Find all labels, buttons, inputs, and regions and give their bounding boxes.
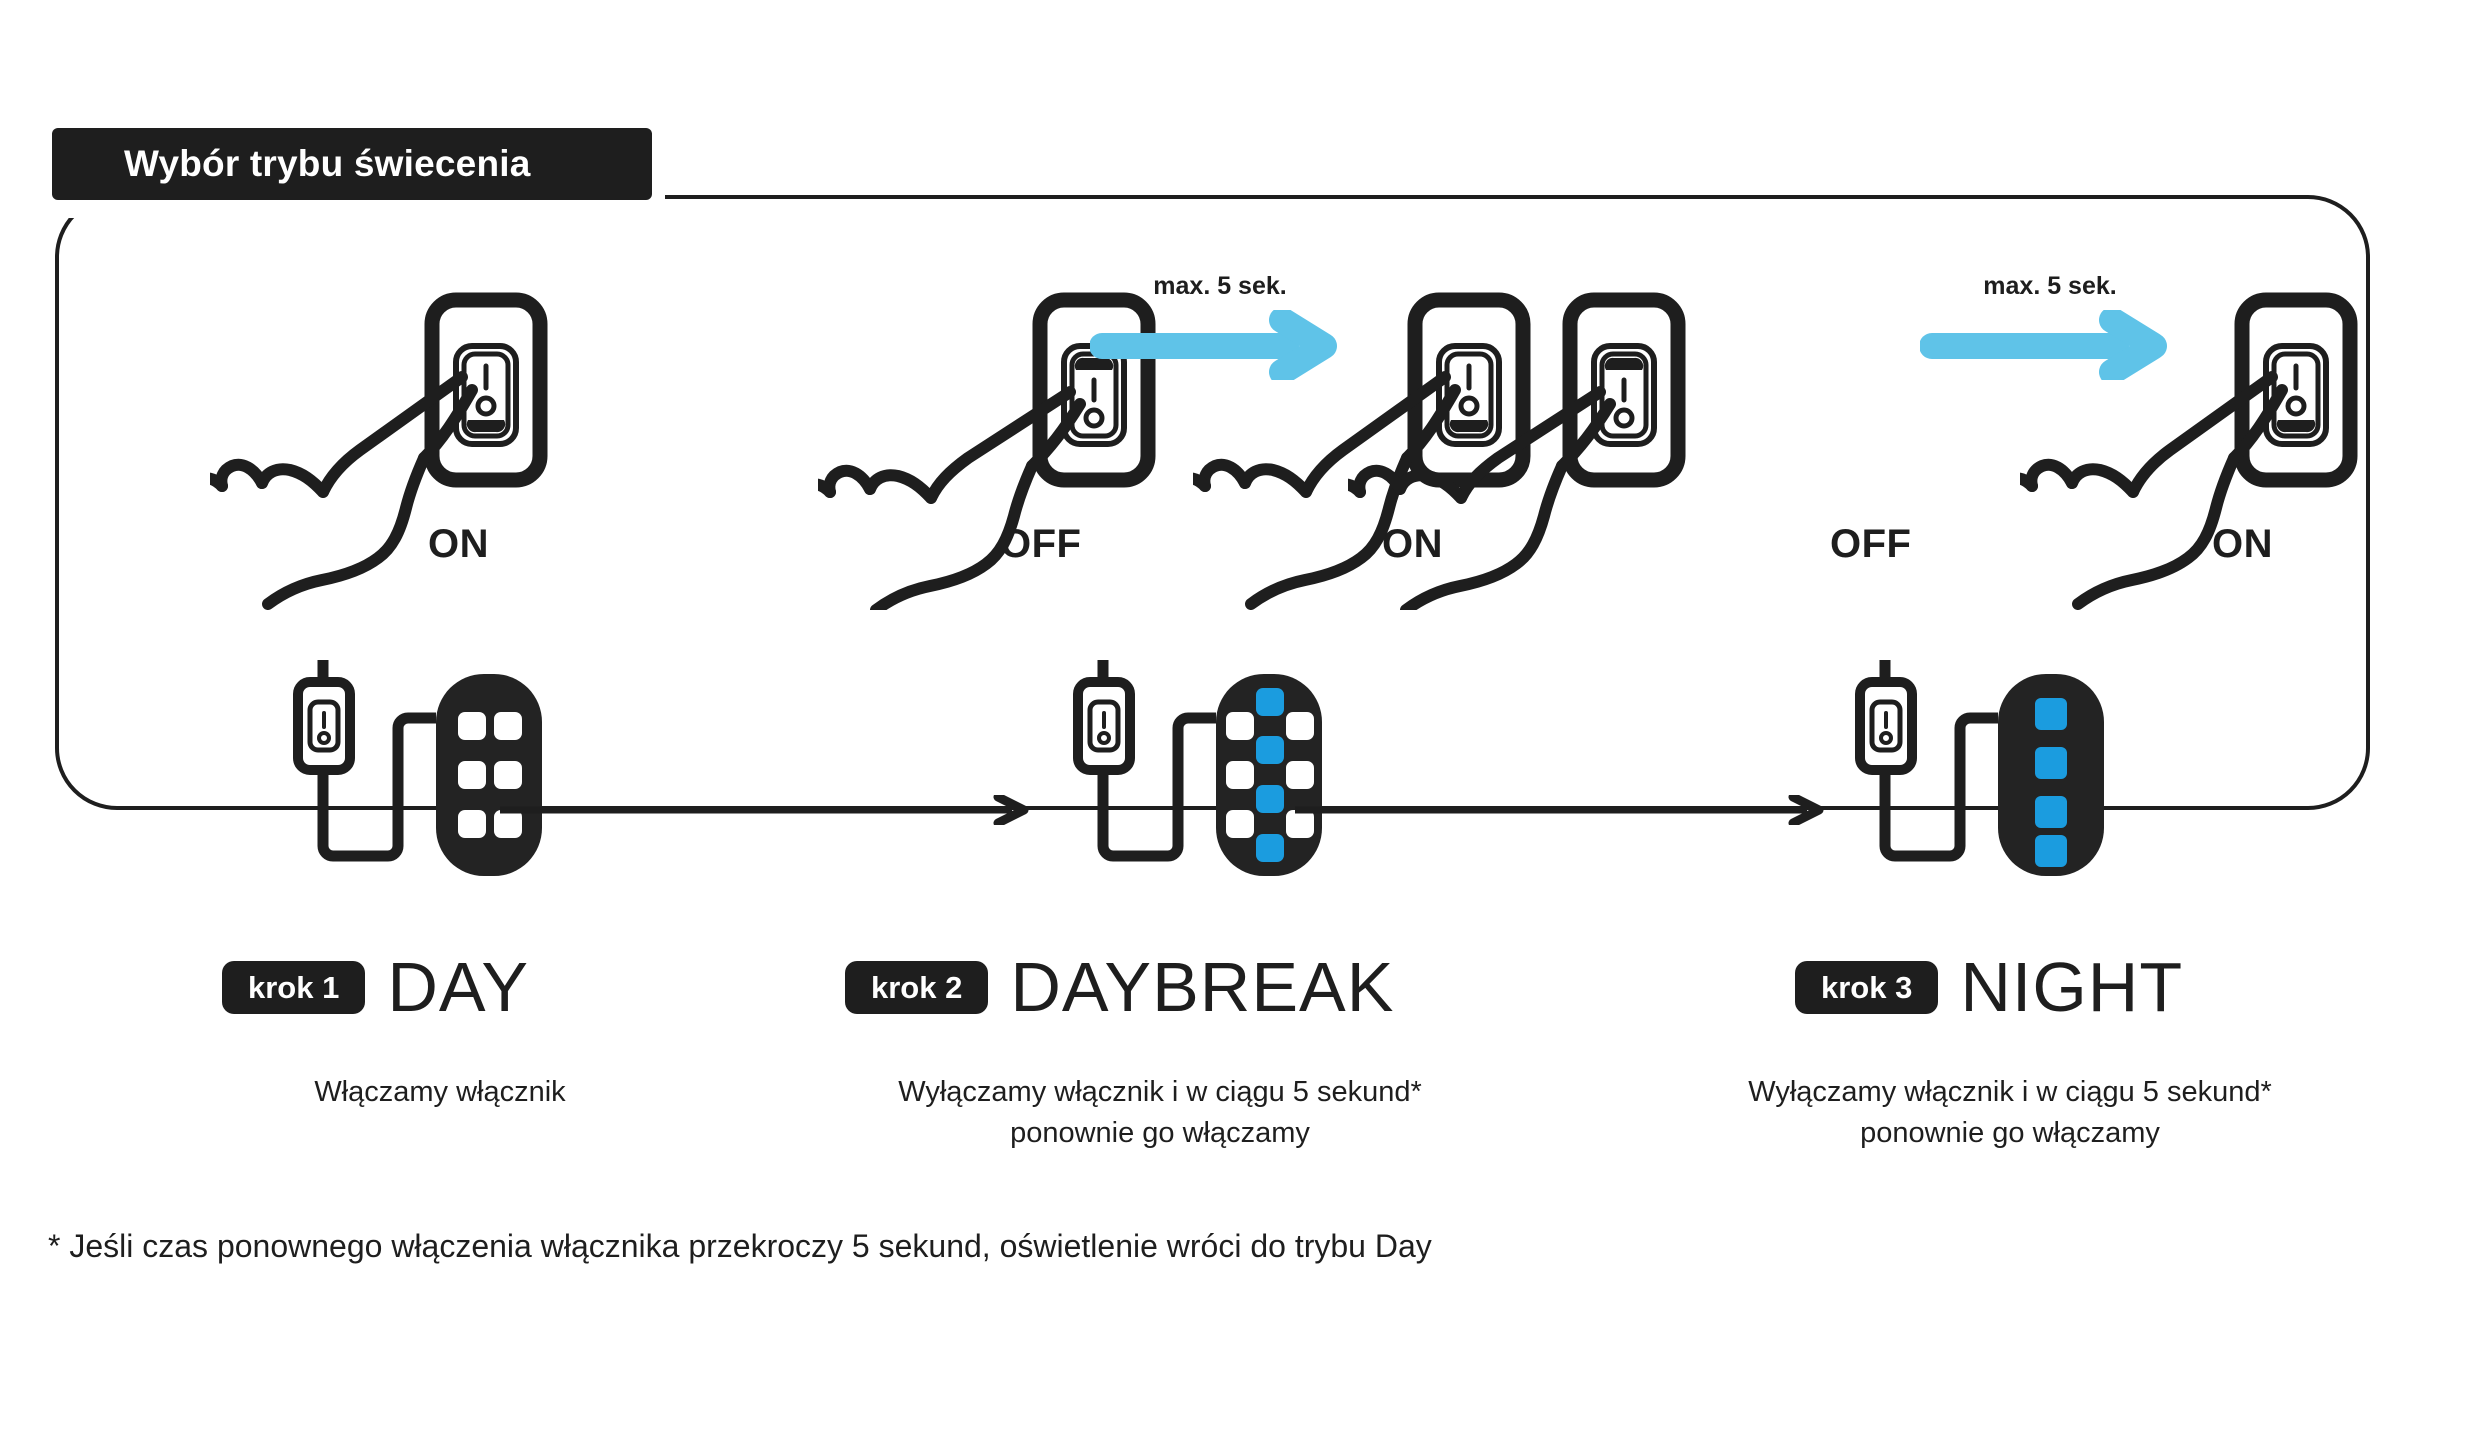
hand-switch-step3-on (2020, 280, 2380, 610)
switch-state-label-step3-off: OFF (1830, 522, 1911, 567)
diagram-canvas: Wybór trybu świecenia (0, 0, 2480, 1434)
title-badge-label: Wybór trybu świecenia (124, 143, 531, 185)
switch-state-label-step2-off: OFF (1000, 522, 1081, 567)
cord-switch-icon (1078, 660, 1216, 856)
step-badge-1: krok 1 (222, 961, 365, 1014)
step-badge-3: krok 3 (1795, 961, 1938, 1014)
step-caption-2: Wyłączamy włącznik i w ciągu 5 sekund* p… (790, 1072, 1530, 1154)
led-panel-icon (1216, 674, 1322, 876)
flow-arrow-2-to-3 (1295, 795, 1825, 825)
cord-switch-icon (298, 660, 436, 856)
flow-arrow-1-to-2 (500, 795, 1030, 825)
mode-name-3: NIGHT (1960, 952, 2183, 1022)
led-module-step2 (1040, 660, 1400, 890)
led-module-step3 (1822, 660, 2182, 890)
mode-name-2: DAYBREAK (1010, 952, 1394, 1022)
step-heading-1: krok 1 DAY (222, 955, 529, 1019)
step-caption-3: Wyłączamy włącznik i w ciągu 5 sekund* p… (1640, 1072, 2380, 1154)
hand-switch-step3-off (1348, 280, 1708, 610)
footnote-text: * Jeśli czas ponownego włączenia włączni… (48, 1228, 1432, 1265)
step-caption-1: Włączamy włącznik (100, 1072, 780, 1113)
hand-switch-step1-on (210, 280, 570, 610)
led-panel-icon (1998, 674, 2104, 876)
cord-switch-icon (1860, 660, 1998, 856)
led-module-step1 (260, 660, 620, 890)
led-panel-icon (436, 674, 542, 876)
switch-state-label-step3-on: ON (2212, 522, 2273, 567)
title-badge: Wybór trybu świecenia (52, 128, 652, 200)
step-heading-3: krok 3 NIGHT (1795, 955, 2183, 1019)
step-heading-2: krok 2 DAYBREAK (845, 955, 1394, 1019)
step-badge-2: krok 2 (845, 961, 988, 1014)
switch-state-label-step1: ON (428, 522, 489, 567)
mode-name-1: DAY (387, 952, 529, 1022)
